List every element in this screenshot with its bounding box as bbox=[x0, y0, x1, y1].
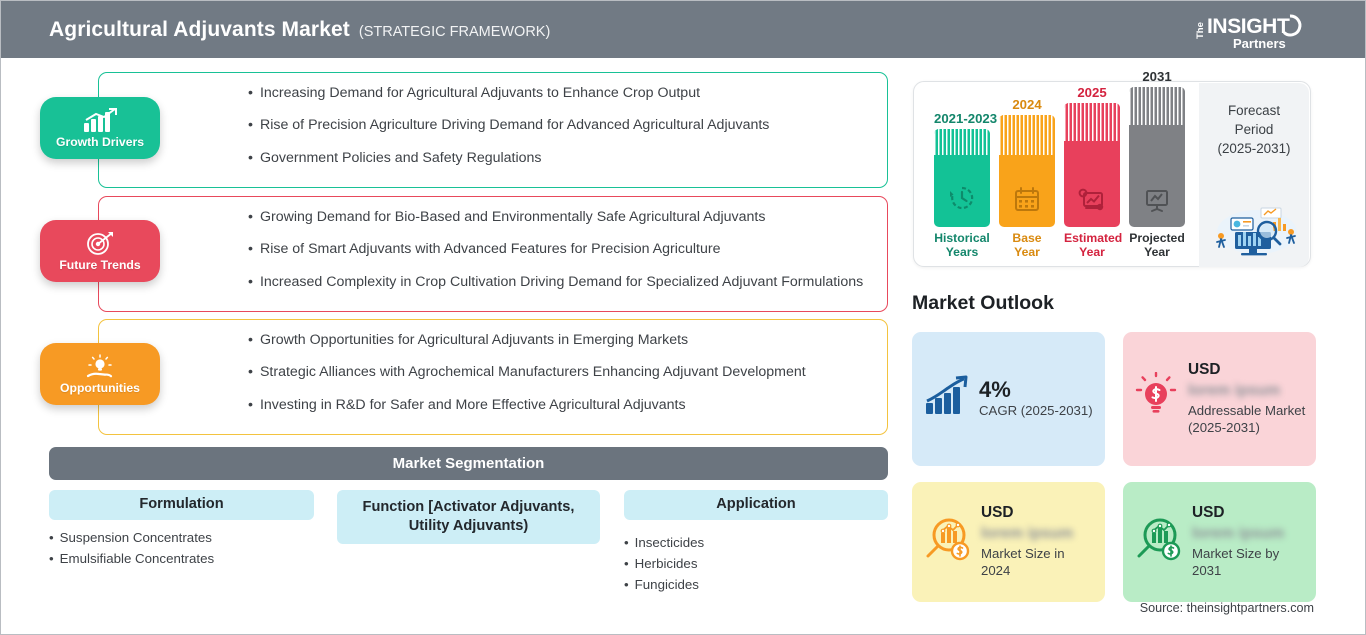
strategic-card-growth-drivers: Growth Drivers •Increasing Demand for Ag… bbox=[98, 72, 888, 188]
currency-label: USD bbox=[981, 504, 1095, 522]
forecast-line-1: Forecast bbox=[1199, 101, 1309, 120]
card-label: Market Size in 2024 bbox=[981, 545, 1095, 580]
bar-year-label: 2021-2023 bbox=[934, 111, 990, 126]
card-inner: 4% CAGR (2025-2031) bbox=[912, 332, 1105, 466]
clock-history-icon bbox=[947, 183, 977, 218]
segmentation-column-formulation: Formulation •Suspension Concentrates •Em… bbox=[49, 490, 314, 569]
forecast-line-3: (2025-2031) bbox=[1199, 139, 1309, 158]
bar-solid-segment bbox=[999, 155, 1055, 227]
strategic-card-opportunities: Opportunities •Growth Opportunities for … bbox=[98, 319, 888, 435]
cagr-value: 4% bbox=[979, 377, 1011, 402]
bar-category-label: Projected Year bbox=[1129, 231, 1185, 260]
calendar-icon bbox=[1013, 185, 1041, 218]
logo-svg: The INSIGHT Partners bbox=[1187, 11, 1313, 51]
badge-label: Growth Drivers bbox=[56, 135, 144, 149]
list-item: •Emulsifiable Concentrates bbox=[49, 548, 314, 569]
list-item: •Fungicides bbox=[624, 574, 888, 595]
list-item-label: Strategic Alliances with Agrochemical Ma… bbox=[260, 364, 806, 380]
card-text: USD lorem ipsum Market Size in 2024 bbox=[981, 504, 1095, 580]
strategic-card-future-trends: Future Trends •Growing Demand for Bio-Ba… bbox=[98, 196, 888, 312]
bar-projected-year[interactable]: 2031 Projected Year bbox=[1129, 69, 1185, 260]
bullet-list: •Growth Opportunities for Agricultural A… bbox=[98, 319, 888, 427]
badge-growth-drivers[interactable]: Growth Drivers bbox=[40, 97, 160, 159]
blurred-value: lorem ipsum bbox=[1188, 382, 1280, 400]
bar-year-label: 2024 bbox=[999, 97, 1055, 112]
list-item-label: Rise of Precision Agriculture Driving De… bbox=[260, 117, 769, 133]
list-item-label: Fungicides bbox=[635, 577, 699, 592]
list-item-label: Insecticides bbox=[635, 535, 704, 550]
bar-shape bbox=[934, 129, 990, 227]
list-item: •Increased Complexity in Crop Cultivatio… bbox=[248, 272, 872, 293]
segmentation-header: Application bbox=[624, 490, 888, 520]
bar-historical-years[interactable]: 2021-2023 Historical Years bbox=[934, 111, 990, 260]
bar-chart-arrow-icon bbox=[922, 375, 970, 424]
lightbulb-dollar-icon bbox=[1133, 372, 1179, 427]
page-header: Agricultural Adjuvants Market (STRATEGIC… bbox=[1, 1, 1366, 58]
bullet-list: •Increasing Demand for Agricultural Adju… bbox=[98, 72, 888, 180]
bar-estimated-year[interactable]: 2025 bbox=[1064, 85, 1120, 260]
breadcrumb: Agricultural Adjuvants Market (STRATEGIC… bbox=[49, 18, 550, 42]
bar-stripe-segment bbox=[934, 129, 990, 155]
list-item: •Growth Opportunities for Agricultural A… bbox=[248, 330, 872, 351]
bullet-dot: • bbox=[248, 330, 253, 351]
card-text: USD lorem ipsum Addressable Market (2025… bbox=[1188, 361, 1306, 437]
list-item-label: Suspension Concentrates bbox=[60, 530, 212, 545]
bullet-list: •Growing Demand for Bio-Based and Enviro… bbox=[98, 196, 888, 304]
list-item-label: Emulsifiable Concentrates bbox=[60, 551, 214, 566]
outlook-card-market-size-2031[interactable]: USD lorem ipsum Market Size by 2031 bbox=[1123, 482, 1316, 602]
bar-category-label: Historical Years bbox=[934, 231, 990, 260]
card-inner: USD lorem ipsum Market Size in 2024 bbox=[912, 482, 1105, 602]
list-item: •Increasing Demand for Agricultural Adju… bbox=[248, 83, 872, 104]
currency-label: USD bbox=[1192, 504, 1306, 522]
bar-stripe-segment bbox=[1129, 87, 1185, 125]
magnify-chart-dollar-icon bbox=[922, 516, 972, 569]
bar-base-year[interactable]: 2024 bbox=[999, 97, 1055, 260]
bullet-dot: • bbox=[248, 362, 253, 383]
bullet-dot: • bbox=[624, 553, 629, 574]
segmentation-column-function: Function [Activator Adjuvants, Utility A… bbox=[337, 490, 600, 544]
presentation-chart-icon bbox=[1142, 187, 1172, 218]
bullet-dot: • bbox=[49, 548, 54, 569]
bullet-dot: • bbox=[248, 115, 253, 136]
list-item: •Investing in R&D for Safer and More Eff… bbox=[248, 395, 872, 416]
infographic-page: Agricultural Adjuvants Market (STRATEGIC… bbox=[0, 0, 1366, 635]
chart-bars: 2021-2023 Historical Years bbox=[928, 82, 1196, 268]
magnify-chart-dollar-icon bbox=[1133, 516, 1183, 569]
list-item-label: Herbicides bbox=[635, 556, 698, 571]
data-analytics-illustration bbox=[1205, 198, 1303, 261]
svg-text:Partners: Partners bbox=[1233, 36, 1286, 51]
bar-stripe-segment bbox=[1064, 103, 1120, 141]
card-inner: USD lorem ipsum Market Size by 2031 bbox=[1123, 482, 1316, 602]
svg-text:The: The bbox=[1195, 22, 1206, 39]
bullet-dot: • bbox=[248, 395, 253, 416]
list-item: •Government Policies and Safety Regulati… bbox=[248, 148, 872, 169]
bar-solid-segment bbox=[1064, 141, 1120, 227]
forecast-period-panel: Forecast Period (2025-2031) bbox=[1199, 83, 1309, 267]
bullet-dot: • bbox=[49, 527, 54, 548]
list-item-label: Government Policies and Safety Regulatio… bbox=[260, 150, 542, 166]
card-inner: USD lorem ipsum Addressable Market (2025… bbox=[1123, 332, 1316, 466]
bar-shape bbox=[1064, 103, 1120, 227]
badge-future-trends[interactable]: Future Trends bbox=[40, 220, 160, 282]
list-item: •Insecticides bbox=[624, 532, 888, 553]
card-label: Addressable Market (2025-2031) bbox=[1188, 402, 1306, 437]
bullet-dot: • bbox=[248, 148, 253, 169]
bar-shape bbox=[999, 115, 1055, 227]
segmentation-items: •Suspension Concentrates •Emulsifiable C… bbox=[49, 527, 314, 569]
bullet-dot: • bbox=[624, 574, 629, 595]
currency-label: USD bbox=[1188, 361, 1306, 379]
market-outlook-title: Market Outlook bbox=[912, 292, 1054, 315]
bar-year-label: 2025 bbox=[1064, 85, 1120, 100]
segmentation-items: •Insecticides •Herbicides •Fungicides bbox=[624, 532, 888, 595]
bar-solid-segment bbox=[934, 155, 990, 227]
bullet-dot: • bbox=[248, 239, 253, 260]
segmentation-header: Formulation bbox=[49, 490, 314, 520]
list-item: •Herbicides bbox=[624, 553, 888, 574]
badge-opportunities[interactable]: Opportunities bbox=[40, 343, 160, 405]
list-item-label: Growth Opportunities for Agricultural Ad… bbox=[260, 332, 688, 348]
list-item-label: Increased Complexity in Crop Cultivation… bbox=[260, 274, 863, 290]
segmentation-header: Function [Activator Adjuvants, Utility A… bbox=[337, 490, 600, 544]
lightbulb-hand-icon bbox=[83, 354, 117, 380]
bullet-dot: • bbox=[624, 532, 629, 553]
source-attribution: Source: theinsightpartners.com bbox=[1140, 601, 1314, 615]
bullet-dot: • bbox=[248, 83, 253, 104]
bar-category-label: Estimated Year bbox=[1064, 231, 1120, 260]
bar-chart-growth-icon bbox=[80, 108, 120, 134]
card-text: 4% CAGR (2025-2031) bbox=[979, 378, 1095, 420]
bar-stripe-segment bbox=[999, 115, 1055, 155]
blurred-value: lorem ipsum bbox=[981, 525, 1073, 543]
badge-label: Future Trends bbox=[59, 258, 140, 272]
cagr-label: CAGR (2025-2031) bbox=[979, 402, 1095, 419]
list-item: •Rise of Precision Agriculture Driving D… bbox=[248, 115, 872, 136]
forecast-line-2: Period bbox=[1199, 120, 1309, 139]
svg-text:INSIGHT: INSIGHT bbox=[1207, 15, 1290, 38]
blurred-value: lorem ipsum bbox=[1192, 525, 1284, 543]
list-item-label: Rise of Smart Adjuvants with Advanced Fe… bbox=[260, 241, 721, 257]
list-item: •Strategic Alliances with Agrochemical M… bbox=[248, 362, 872, 383]
list-item: •Suspension Concentrates bbox=[49, 527, 314, 548]
bar-solid-segment bbox=[1129, 125, 1185, 227]
bar-category-label: Base Year bbox=[999, 231, 1055, 260]
forecast-gear-icon bbox=[1077, 187, 1107, 218]
list-item-label: Growing Demand for Bio-Based and Environ… bbox=[260, 209, 766, 225]
page-title: Agricultural Adjuvants Market bbox=[49, 18, 350, 42]
target-dart-icon bbox=[83, 231, 117, 257]
outlook-card-market-size-2024[interactable]: USD lorem ipsum Market Size in 2024 bbox=[912, 482, 1105, 602]
outlook-card-cagr[interactable]: 4% CAGR (2025-2031) bbox=[912, 332, 1105, 466]
page-subtitle: (STRATEGIC FRAMEWORK) bbox=[359, 24, 550, 40]
badge-label: Opportunities bbox=[60, 381, 140, 395]
list-item: •Growing Demand for Bio-Based and Enviro… bbox=[248, 207, 872, 228]
bullet-dot: • bbox=[248, 207, 253, 228]
bar-year-label: 2031 bbox=[1129, 69, 1185, 84]
segmentation-column-application: Application •Insecticides •Herbicides •F… bbox=[624, 490, 888, 595]
card-label: Market Size by 2031 bbox=[1192, 545, 1306, 580]
list-item-label: Investing in R&D for Safer and More Effe… bbox=[260, 397, 686, 413]
bar-shape bbox=[1129, 87, 1185, 227]
list-item-label: Increasing Demand for Agricultural Adjuv… bbox=[260, 85, 700, 101]
outlook-card-addressable-market[interactable]: USD lorem ipsum Addressable Market (2025… bbox=[1123, 332, 1316, 466]
market-segmentation-title: Market Segmentation bbox=[49, 447, 888, 480]
forecast-period-chart: 2021-2023 Historical Years bbox=[913, 81, 1311, 267]
insight-partners-logo[interactable]: The INSIGHT Partners bbox=[1187, 11, 1313, 51]
bullet-dot: • bbox=[248, 272, 253, 293]
list-item: •Rise of Smart Adjuvants with Advanced F… bbox=[248, 239, 872, 260]
card-text: USD lorem ipsum Market Size by 2031 bbox=[1192, 504, 1306, 580]
